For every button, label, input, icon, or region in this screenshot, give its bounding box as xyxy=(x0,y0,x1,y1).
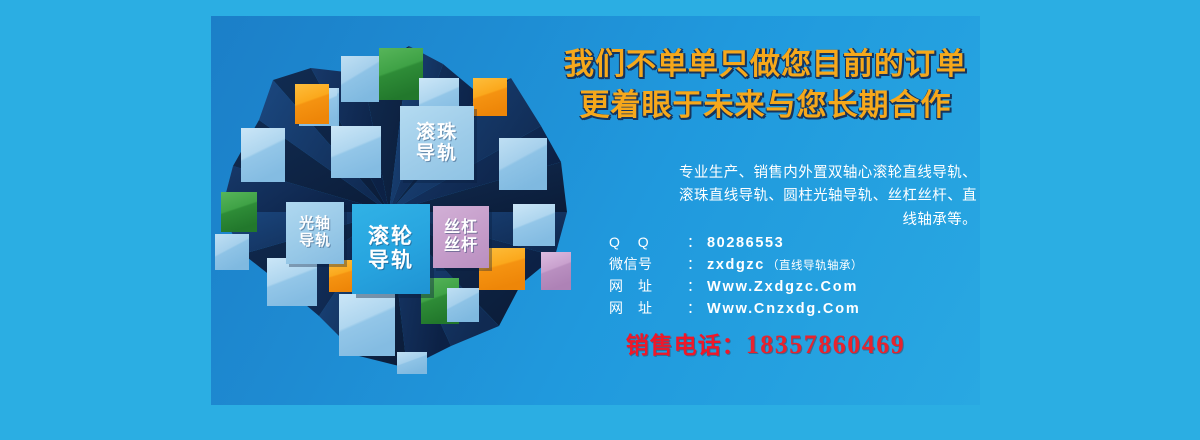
product-box-line1: 滚珠 xyxy=(416,122,458,143)
contact-colon: ： xyxy=(687,254,701,274)
product-box-lead-screw: 丝杠 丝杆 xyxy=(433,206,489,268)
sales-phone: 销售电话：18357860469 xyxy=(551,326,980,360)
sales-phone-label: 销售电话： xyxy=(626,332,746,358)
contact-label-website: 网 址 xyxy=(609,298,687,318)
product-box-roller-guide: 滚轮 导轨 xyxy=(352,204,430,294)
contact-label-website: 网 址 xyxy=(609,276,687,296)
contact-row-website-2[interactable]: 网 址 ： Www.Cnzxdg.Com xyxy=(609,298,980,320)
contact-note-wechat: （直线导轨轴承） xyxy=(767,257,863,273)
description-line-1: 专业生产、销售内外置双轴心滚轮直线导轨、 xyxy=(559,162,977,185)
contact-colon: ： xyxy=(687,232,701,252)
headline: 我们不单单只做您目前的订单 更着眼于未来与您长期合作 xyxy=(551,44,980,127)
product-box-line2: 导轨 xyxy=(416,143,458,164)
contact-value-website-2[interactable]: Www.Cnzxdg.Com xyxy=(707,301,861,317)
product-box-ball-guide: 滚珠 导轨 xyxy=(400,106,474,180)
contact-value-website-1[interactable]: Www.Zxdgzc.Com xyxy=(707,279,858,295)
contact-value-wechat: zxdgzc xyxy=(707,257,765,273)
content-column: 我们不单单只做您目前的订单 更着眼于未来与您长期合作 专业生产、销售内外置双轴心… xyxy=(551,16,980,405)
contact-value-qq: 80286553 xyxy=(707,235,784,251)
contact-label-qq: Q Q xyxy=(609,234,687,250)
product-box-line2: 导轨 xyxy=(299,233,331,250)
product-box-line2: 导轨 xyxy=(368,249,414,273)
banner-stage: 滚珠 导轨 光轴 导轨 滚轮 导轨 丝杠 丝杆 我们不单单只做您目前的订单 更着… xyxy=(0,0,1200,440)
product-box-line2: 丝杆 xyxy=(444,237,478,255)
contact-row-website-1[interactable]: 网 址 ： Www.Zxdgzc.Com xyxy=(609,276,980,298)
banner-panel: 滚珠 导轨 光轴 导轨 滚轮 导轨 丝杠 丝杆 我们不单单只做您目前的订单 更着… xyxy=(211,16,980,405)
product-box-line1: 滚轮 xyxy=(368,225,414,249)
product-box-optical-shaft-guide: 光轴 导轨 xyxy=(286,202,344,264)
contact-colon: ： xyxy=(687,298,701,318)
product-box-line1: 光轴 xyxy=(299,216,331,233)
contact-row-qq: Q Q ： 80286553 xyxy=(609,232,980,254)
product-box-line1: 丝杠 xyxy=(444,219,478,237)
sales-phone-number[interactable]: 18357860469 xyxy=(746,330,906,359)
description-text: 专业生产、销售内外置双轴心滚轮直线导轨、 滚珠直线导轨、圆柱光轴导轨、丝杠丝杆、… xyxy=(559,162,977,232)
contact-label-wechat: 微信号 xyxy=(609,254,687,274)
exploding-cubes-graphic: 滚珠 导轨 光轴 导轨 滚轮 导轨 丝杠 丝杆 xyxy=(211,16,571,405)
contact-info: Q Q ： 80286553 微信号 ： zxdgzc （直线导轨轴承） 网 址… xyxy=(609,232,980,320)
description-line-3: 线轴承等。 xyxy=(559,209,977,232)
headline-line-2: 更着眼于未来与您长期合作 xyxy=(551,85,980,126)
contact-colon: ： xyxy=(687,276,701,296)
description-line-2: 滚珠直线导轨、圆柱光轴导轨、丝杠丝杆、直 xyxy=(559,185,977,208)
headline-line-1: 我们不单单只做您目前的订单 xyxy=(551,44,980,85)
contact-row-wechat: 微信号 ： zxdgzc （直线导轨轴承） xyxy=(609,254,980,276)
